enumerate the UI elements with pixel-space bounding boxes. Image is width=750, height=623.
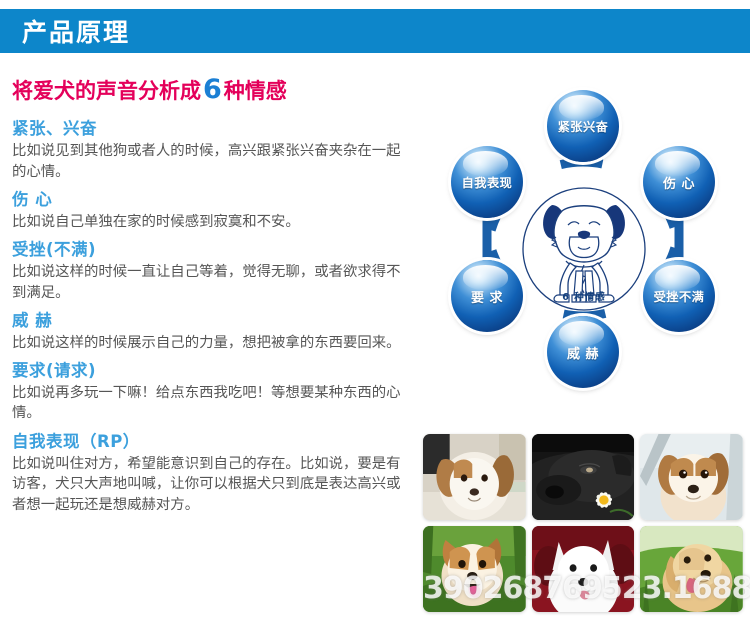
- emotion-block-self-expression: 自我表现（RP） 比如说叫住对方，希望能意识到自己的存在。比如说，要是有访客，犬…: [12, 431, 412, 515]
- emotion-node-label: 要 求: [471, 287, 503, 306]
- dog-photo-tan-puppy: [640, 434, 743, 520]
- dog-photo-corgi-in-grass: [423, 526, 526, 612]
- dog-photo-grid: [423, 434, 743, 612]
- emotion-description: 比如说这样的时候一直让自己等着，觉得无聊，或者欲求得不到满足。: [12, 262, 412, 303]
- subtitle-suffix: 种情感: [224, 79, 287, 103]
- emotion-heading: 威 赫: [12, 310, 412, 332]
- emotion-node-label: 受挫不满: [654, 287, 705, 305]
- emotion-heading: 要求(请求): [12, 360, 412, 382]
- subtitle-prefix: 将爱犬的声音分析成: [12, 79, 201, 103]
- emotion-node-label: 威 赫: [567, 343, 599, 362]
- emotion-text-column: 将爱犬的声音分析成6种情感 紧张、兴奋 比如说见到其他狗或者人的时候，高兴跟紧张…: [12, 74, 412, 522]
- emotion-node-demand[interactable]: 要 求: [451, 260, 523, 332]
- emotion-block-frustrated: 受挫(不满) 比如说这样的时候一直让自己等着，觉得无聊，或者欲求得不到满足。: [12, 239, 412, 303]
- emotion-block-demand: 要求(请求) 比如说再多玩一下嘛！给点东西我吃吧！等想要某种东西的心情。: [12, 360, 412, 424]
- page-title: 产品原理: [22, 13, 130, 49]
- emotion-circle-diagram: 6 种情感 紧张兴奋 伤 心 受挫不满 威 赫 要 求 自我表现: [423, 88, 743, 420]
- emotion-heading: 受挫(不满): [12, 239, 412, 261]
- emotion-node-self-expression[interactable]: 自我表现: [451, 146, 523, 218]
- emotion-description: 比如说叫住对方，希望能意识到自己的存在。比如说，要是有访客，犬只大声地叫喊，让你…: [12, 454, 412, 515]
- emotion-node-label: 自我表现: [462, 173, 513, 191]
- emotion-heading: 自我表现（RP）: [12, 431, 412, 453]
- emotion-block-nervous-excited: 紧张、兴奋 比如说见到其他狗或者人的时候，高兴跟紧张兴奋夹杂在一起的心情。: [12, 118, 412, 182]
- emotion-description: 比如说这样的时候展示自己的力量，想把被拿的东西要回来。: [12, 333, 412, 353]
- dog-photo-brown-white-dog: [423, 434, 526, 520]
- emotion-heading: 伤 心: [12, 189, 412, 211]
- emotion-description: 比如说见到其他狗或者人的时候，高兴跟紧张兴奋夹杂在一起的心情。: [12, 141, 412, 182]
- dog-photo-white-samoyed: [532, 526, 635, 612]
- emotion-node-label: 紧张兴奋: [558, 117, 609, 135]
- subtitle-number: 6: [201, 74, 224, 105]
- emotion-node-threatening[interactable]: 威 赫: [547, 316, 619, 388]
- page-header-banner: 产品原理: [0, 9, 750, 53]
- emotion-description: 比如说自己单独在家的时候感到寂寞和不安。: [12, 212, 412, 232]
- emotion-description: 比如说再多玩一下嘛！给点东西我吃吧！等想要某种东西的心情。: [12, 383, 412, 424]
- section-subtitle: 将爱犬的声音分析成6种情感: [12, 74, 412, 106]
- center-dog-illustration: [518, 185, 650, 317]
- emotion-block-sad: 伤 心 比如说自己单独在家的时候感到寂寞和不安。: [12, 189, 412, 232]
- emotion-node-sad[interactable]: 伤 心: [643, 146, 715, 218]
- dog-photo-black-dog-with-daisy: [532, 434, 635, 520]
- emotion-node-frustrated[interactable]: 受挫不满: [643, 260, 715, 332]
- emotion-node-nervous-excited[interactable]: 紧张兴奋: [547, 90, 619, 162]
- emotion-node-label: 伤 心: [663, 173, 695, 192]
- dog-photo-golden-retriever-in-grass: [640, 526, 743, 612]
- emotion-block-threatening: 威 赫 比如说这样的时候展示自己的力量，想把被拿的东西要回来。: [12, 310, 412, 353]
- emotion-heading: 紧张、兴奋: [12, 118, 412, 140]
